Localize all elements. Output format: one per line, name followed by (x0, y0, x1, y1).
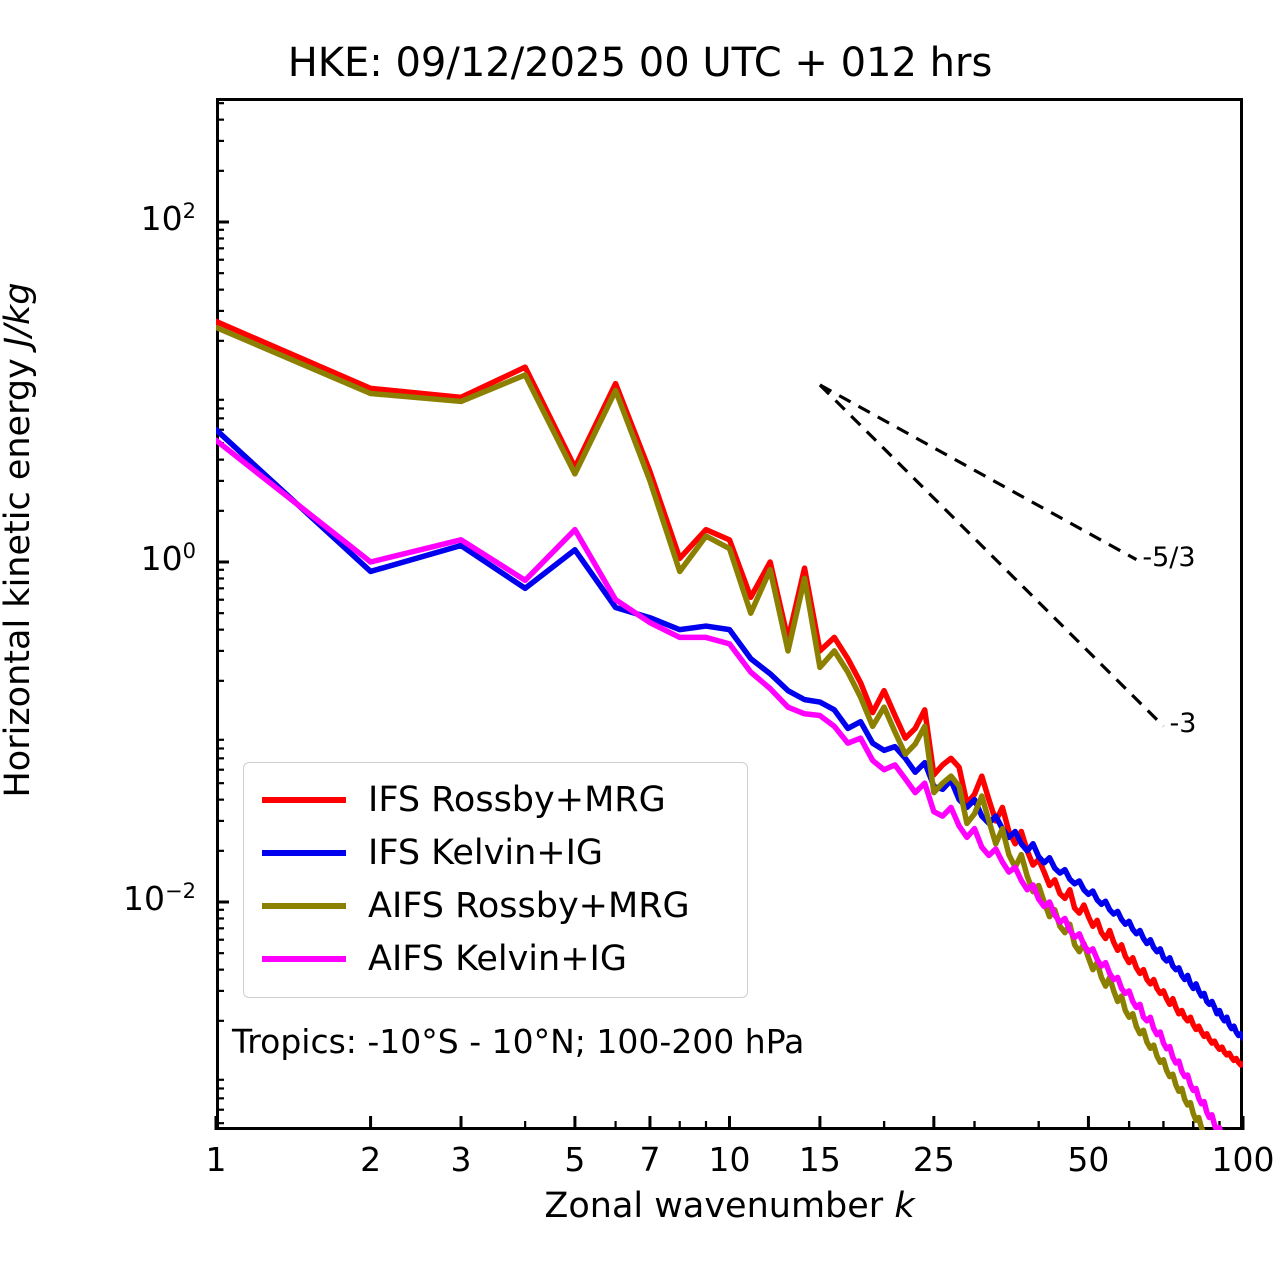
legend-item-label: AIFS Rossby+MRG (368, 886, 690, 926)
chart-svg (0, 0, 1280, 1288)
data-series-group (216, 321, 1243, 1197)
x-axis-ticks (216, 1116, 1243, 1130)
region-annotation: Tropics: -10°S - 10°N; 100-200 hPa (232, 1022, 804, 1061)
y-axis-ticks (216, 103, 229, 1123)
legend-item[interactable]: AIFS Kelvin+IG (244, 932, 747, 985)
slope-label: -5/3 (1142, 542, 1195, 573)
chart-legend[interactable]: IFS Rossby+MRGIFS Kelvin+IGAIFS Rossby+M… (243, 762, 748, 998)
x-tick-label: 10 (709, 1140, 751, 1179)
slope-reference-lines (820, 385, 1164, 726)
legend-color-swatch (262, 850, 346, 856)
x-tick-label: 2 (360, 1140, 381, 1179)
y-tick-label: 10−2 (123, 879, 196, 918)
x-tick-label: 7 (639, 1140, 660, 1179)
y-tick-label: 100 (141, 539, 196, 578)
y-tick-label: 102 (141, 199, 196, 238)
slope-line (820, 385, 1164, 726)
legend-item[interactable]: IFS Kelvin+IG (244, 826, 747, 879)
x-tick-label: 50 (1067, 1140, 1109, 1179)
legend-item-label: IFS Rossby+MRG (368, 780, 666, 820)
x-tick-label: 1 (206, 1140, 227, 1179)
x-tick-label: 15 (799, 1140, 841, 1179)
legend-item[interactable]: IFS Rossby+MRG (244, 773, 747, 826)
x-tick-label: 100 (1212, 1140, 1275, 1179)
legend-item-label: AIFS Kelvin+IG (368, 939, 627, 979)
legend-color-swatch (262, 797, 346, 803)
legend-item[interactable]: AIFS Rossby+MRG (244, 879, 747, 932)
legend-color-swatch (262, 956, 346, 962)
legend-color-swatch (262, 903, 346, 909)
x-tick-label: 5 (564, 1140, 585, 1179)
legend-item-label: IFS Kelvin+IG (368, 833, 603, 873)
figure-canvas: HKE: 09/12/2025 00 UTC + 012 hrs Horizon… (0, 0, 1280, 1288)
slope-line (820, 385, 1136, 560)
x-tick-label: 3 (451, 1140, 472, 1179)
slope-label: -3 (1169, 708, 1196, 739)
x-tick-label: 25 (913, 1140, 955, 1179)
